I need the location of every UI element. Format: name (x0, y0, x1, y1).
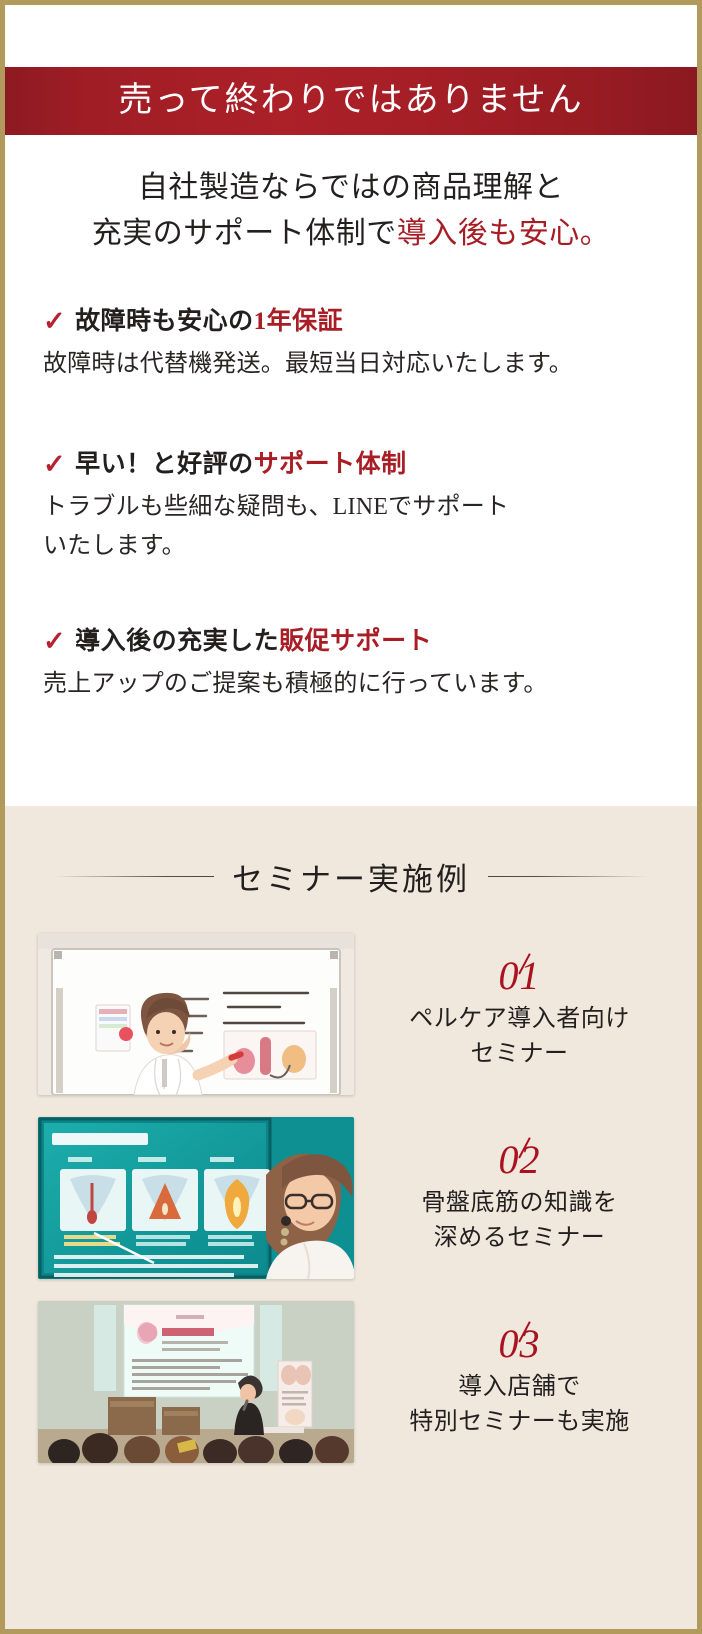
feature-body: 売上アップのご提案も積極的に行っています。 (43, 665, 667, 704)
support-section: 売って終わりではありません 自社製造ならではの商品理解と 充実のサポート体制で導… (5, 5, 697, 806)
caption-line-1: 骨盤底筋の知識を (360, 1186, 679, 1221)
feature-heading-text: 導入後の充実した販促サポート (75, 625, 432, 659)
feature-body: 故障時は代替機発送。最短当日対応いたします。 (43, 345, 667, 384)
seminar-number-value: 02 (499, 1140, 541, 1180)
seminar-text-01: 01 ペルケア導入者向け セミナー (354, 956, 679, 1072)
check-icon: ✓ (43, 451, 66, 478)
caption-line-1: ペルケア導入者向け (360, 1002, 679, 1037)
divider-line-right (488, 876, 648, 877)
lead-line-2-accent: 導入後も安心。 (397, 217, 611, 250)
caption-line-2: 特別セミナーも実施 (360, 1405, 679, 1440)
seminar-item-03: 03 導入店舗で 特別セミナーも実施 (5, 1301, 697, 1463)
feature-item-warranty: ✓ 故障時も安心の1年保証 故障時は代替機発送。最短当日対応いたします。 (43, 305, 667, 384)
lead-line-2-plain: 充実のサポート体制で (92, 217, 397, 250)
seminar-number-value: 03 (499, 1324, 541, 1364)
seminar-photo-seminar-room (38, 1301, 354, 1463)
feature-heading: ✓ 導入後の充実した販促サポート (43, 625, 667, 659)
feature-heading-accent: サポート体制 (254, 451, 407, 478)
feature-heading-accent: 販促サポート (279, 628, 432, 655)
section-banner: 売って終わりではありません (5, 67, 697, 135)
feature-heading: ✓ 故障時も安心の1年保証 (43, 305, 667, 339)
feature-heading-plain: 故障時も安心の (75, 308, 254, 335)
feature-item-support: ✓ 早い！と好評のサポート体制 トラブルも些細な疑問も、LINEでサポート いた… (43, 448, 667, 566)
seminar-photo-whiteboard (38, 933, 354, 1095)
feature-item-promotion: ✓ 導入後の充実した販促サポート 売上アップのご提案も積極的に行っています。 (43, 625, 667, 704)
divider-line-left (54, 876, 214, 877)
seminar-text-02: 02 骨盤底筋の知識を 深めるセミナー (354, 1140, 679, 1256)
banner-title: 売って終わりではありません (118, 84, 583, 118)
caption-line-2: セミナー (360, 1037, 679, 1072)
check-icon: ✓ (43, 628, 66, 655)
feature-body: トラブルも些細な疑問も、LINEでサポート いたします。 (43, 488, 667, 566)
feature-heading-text: 早い！と好評のサポート体制 (75, 448, 407, 482)
seminar-list: 01 ペルケア導入者向け セミナー (5, 933, 697, 1463)
feature-heading-plain: 導入後の充実した (75, 628, 279, 655)
seminar-item-01: 01 ペルケア導入者向け セミナー (5, 933, 697, 1095)
seminar-number-02: 02 (360, 1140, 679, 1180)
seminar-number-03: 03 (360, 1324, 679, 1364)
seminar-caption-02: 骨盤底筋の知識を 深めるセミナー (360, 1186, 679, 1256)
seminar-number-01: 01 (360, 956, 679, 996)
seminar-section: セミナー実施例 (5, 806, 697, 1629)
seminar-section-header: セミナー実施例 (5, 854, 697, 899)
seminar-item-02: 02 骨盤底筋の知識を 深めるセミナー (5, 1117, 697, 1279)
feature-heading-accent: 1年保証 (254, 308, 344, 335)
caption-line-1: 導入店舗で (360, 1370, 679, 1405)
seminar-section-title: セミナー実施例 (214, 854, 488, 899)
seminar-photo-pelvic-slide (38, 1117, 354, 1279)
caption-line-2: 深めるセミナー (360, 1221, 679, 1256)
feature-heading-plain: 早い！と好評の (75, 451, 254, 478)
lead-paragraph: 自社製造ならではの商品理解と 充実のサポート体制で導入後も安心。 (5, 165, 697, 256)
promo-page: 売って終わりではありません 自社製造ならではの商品理解と 充実のサポート体制で導… (0, 0, 702, 1634)
seminar-caption-01: ペルケア導入者向け セミナー (360, 1002, 679, 1072)
lead-line-2: 充実のサポート体制で導入後も安心。 (5, 211, 697, 257)
feature-heading: ✓ 早い！と好評のサポート体制 (43, 448, 667, 482)
check-icon: ✓ (43, 308, 66, 335)
seminar-text-03: 03 導入店舗で 特別セミナーも実施 (354, 1324, 679, 1440)
feature-heading-text: 故障時も安心の1年保証 (75, 305, 343, 339)
lead-line-1: 自社製造ならではの商品理解と (5, 165, 697, 211)
seminar-number-value: 01 (499, 956, 541, 996)
seminar-caption-03: 導入店舗で 特別セミナーも実施 (360, 1370, 679, 1440)
